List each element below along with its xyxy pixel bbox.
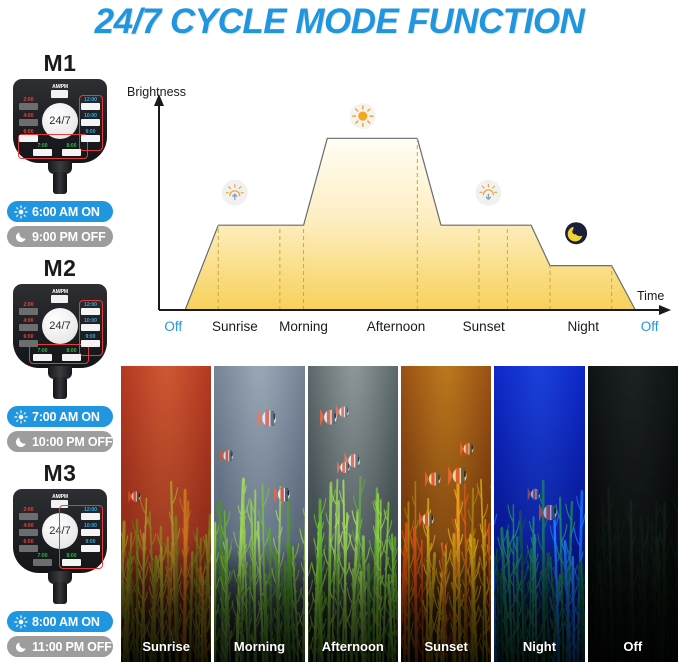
y-axis-label: Brightness [127, 85, 186, 99]
x-tick-label: Night [567, 319, 599, 334]
hour-slot-bottom-2[interactable]: 8:00 [62, 348, 81, 361]
mode-block-m2: M2 AM/PM 24/7 2:00 4:00 6:00 [0, 255, 120, 452]
page-root: 24/7 CYCLE MODE FUNCTION M1 AM/PM 24/7 2… [0, 0, 679, 667]
hour-slot-right-1[interactable]: 12:00 [81, 97, 100, 110]
brightness-cycle-chart: OffSunriseMorningAfternoonSunsetNightOff… [125, 78, 679, 338]
hour-slot-bottom-1[interactable]: 7:00 [33, 143, 52, 156]
on-time-badge-m3: 8:00 AM ON [7, 611, 113, 632]
hour-switch[interactable] [33, 559, 52, 566]
hour-slot-left-1[interactable]: 2:00 [19, 507, 38, 520]
hour-switch[interactable] [81, 340, 100, 347]
aquarium-photo [214, 366, 304, 662]
off-time-badge-m3: 11:00 PM OFF [7, 636, 113, 657]
sun-icon [14, 410, 28, 424]
device-cable [53, 172, 67, 194]
hour-switch[interactable] [81, 308, 100, 315]
photo-panel-morning: Morning [214, 366, 304, 662]
off-time-badge-m2: 10:00 PM OFF [7, 431, 113, 452]
ampm-button[interactable] [51, 295, 68, 303]
hour-switch[interactable] [81, 513, 100, 520]
controller-device-m2[interactable]: AM/PM 24/7 2:00 4:00 6:00 12: [7, 284, 113, 402]
ampm-button[interactable] [51, 90, 68, 98]
hour-switch[interactable] [19, 529, 38, 536]
mode-title-m1: M1 [7, 50, 113, 77]
x-tick-label: Afternoon [367, 319, 426, 334]
hour-switch[interactable] [81, 545, 100, 552]
panel-label: Afternoon [308, 639, 398, 654]
hour-switch[interactable] [19, 513, 38, 520]
sunset-icon [475, 180, 501, 206]
aquarium-photo [401, 366, 491, 662]
mode-list: M1 AM/PM 24/7 2:00 4:00 6:00 [0, 50, 120, 665]
hour-switch[interactable] [19, 545, 38, 552]
hour-slot-bottom-1[interactable]: 7:00 [33, 553, 52, 566]
photo-panel-afternoon: Afternoon [308, 366, 398, 662]
badge-text: 6:00 AM ON [32, 205, 100, 219]
panel-label: Morning [214, 639, 304, 654]
hour-switch[interactable] [62, 149, 81, 156]
on-time-badge-m2: 7:00 AM ON [7, 406, 113, 427]
sun-icon [14, 615, 28, 629]
photo-panel-night: Night [494, 366, 584, 662]
badge-text: 9:00 PM OFF [32, 230, 106, 244]
hour-switch[interactable] [81, 529, 100, 536]
hour-switch[interactable] [19, 103, 38, 110]
x-tick-label: Off [641, 319, 659, 334]
panel-label: Sunset [401, 639, 491, 654]
hour-switch[interactable] [19, 135, 38, 142]
photo-strip: Sunrise Morning Afternoon Sunset Night O… [121, 366, 678, 662]
hour-slot-right-2[interactable]: 10:00 [81, 318, 100, 331]
dial-24-7[interactable]: 24/7 [42, 308, 78, 344]
aquarium-photo [308, 366, 398, 662]
hour-slot-bottom-1[interactable]: 7:00 [33, 348, 52, 361]
mode-title-m2: M2 [7, 255, 113, 282]
photo-panel-sunset: Sunset [401, 366, 491, 662]
page-title: 24/7 CYCLE MODE FUNCTION [0, 2, 679, 42]
hour-slot-right-2[interactable]: 10:00 [81, 113, 100, 126]
badge-text: 7:00 AM ON [32, 410, 100, 424]
hour-switch[interactable] [62, 354, 81, 361]
panel-label: Sunrise [121, 639, 211, 654]
sun-icon [14, 205, 28, 219]
aquarium-photo [121, 366, 211, 662]
hour-slot-left-1[interactable]: 2:00 [19, 302, 38, 315]
photo-panel-sunrise: Sunrise [121, 366, 211, 662]
x-tick-label: Morning [279, 319, 328, 334]
hour-switch[interactable] [33, 354, 52, 361]
hour-slot-right-3[interactable]: 9:00 [81, 539, 100, 552]
aquarium-photo [494, 366, 584, 662]
hour-slot-right-2[interactable]: 10:00 [81, 523, 100, 536]
x-tick-label: Sunrise [212, 319, 258, 334]
x-axis-arrow [659, 305, 671, 315]
x-axis-label: Time [637, 289, 664, 303]
moon-icon [14, 640, 28, 654]
hour-switch[interactable] [19, 324, 38, 331]
device-cable [53, 582, 67, 604]
mode-title-m3: M3 [7, 460, 113, 487]
badge-text: 8:00 AM ON [32, 615, 100, 629]
panel-label: Night [494, 639, 584, 654]
hour-switch[interactable] [81, 119, 100, 126]
moon-icon [14, 435, 28, 449]
on-time-badge-m1: 6:00 AM ON [7, 201, 113, 222]
chart-svg: OffSunriseMorningAfternoonSunsetNightOff… [125, 78, 679, 338]
hour-slot-left-2[interactable]: 4:00 [19, 523, 38, 536]
hour-switch[interactable] [19, 308, 38, 315]
sun-icon [350, 103, 376, 129]
device-cable [53, 377, 67, 399]
moon-icon [565, 222, 587, 244]
sunrise-icon [222, 180, 248, 206]
mode-block-m3: M3 AM/PM 24/7 2:00 4:00 6:00 [0, 460, 120, 657]
hour-switch[interactable] [33, 149, 52, 156]
hour-switch[interactable] [62, 559, 81, 566]
hour-slot-bottom-2[interactable]: 8:00 [62, 553, 81, 566]
panel-label: Off [588, 639, 678, 654]
hour-slot-left-3[interactable]: 6:00 [19, 539, 38, 552]
hour-slot-left-2[interactable]: 4:00 [19, 318, 38, 331]
off-time-badge-m1: 9:00 PM OFF [7, 226, 113, 247]
hour-switch[interactable] [19, 119, 38, 126]
photo-panel-off: Off [588, 366, 678, 662]
hour-slot-right-3[interactable]: 9:00 [81, 334, 100, 347]
hour-slot-right-3[interactable]: 9:00 [81, 129, 100, 142]
x-tick-label: Sunset [463, 319, 505, 334]
brightness-area [185, 138, 635, 310]
chart-plot-area: OffSunriseMorningAfternoonSunsetNightOff [154, 94, 671, 334]
hour-slot-left-1[interactable]: 2:00 [19, 97, 38, 110]
controller-device-m3[interactable]: AM/PM 24/7 2:00 4:00 6:00 12:00 [7, 489, 113, 607]
hour-slot-left-3[interactable]: 6:00 [19, 129, 38, 142]
hour-slot-left-2[interactable]: 4:00 [19, 113, 38, 126]
badge-text: 10:00 PM OFF [32, 435, 112, 449]
hour-switch[interactable] [81, 135, 100, 142]
hour-switch[interactable] [81, 324, 100, 331]
mode-block-m1: M1 AM/PM 24/7 2:00 4:00 6:00 [0, 50, 120, 247]
hour-slot-right-1[interactable]: 12:00 [81, 507, 100, 520]
controller-device-m1[interactable]: AM/PM 24/7 2:00 4:00 6:00 12: [7, 79, 113, 197]
hour-switch[interactable] [81, 103, 100, 110]
moon-icon [14, 230, 28, 244]
hour-switch[interactable] [19, 340, 38, 347]
hour-slot-right-1[interactable]: 12:00 [81, 302, 100, 315]
badge-text: 11:00 PM OFF [32, 640, 112, 654]
hour-slot-bottom-2[interactable]: 8:00 [62, 143, 81, 156]
aquarium-photo [588, 366, 678, 662]
x-tick-label: Off [164, 319, 182, 334]
hour-slot-left-3[interactable]: 6:00 [19, 334, 38, 347]
